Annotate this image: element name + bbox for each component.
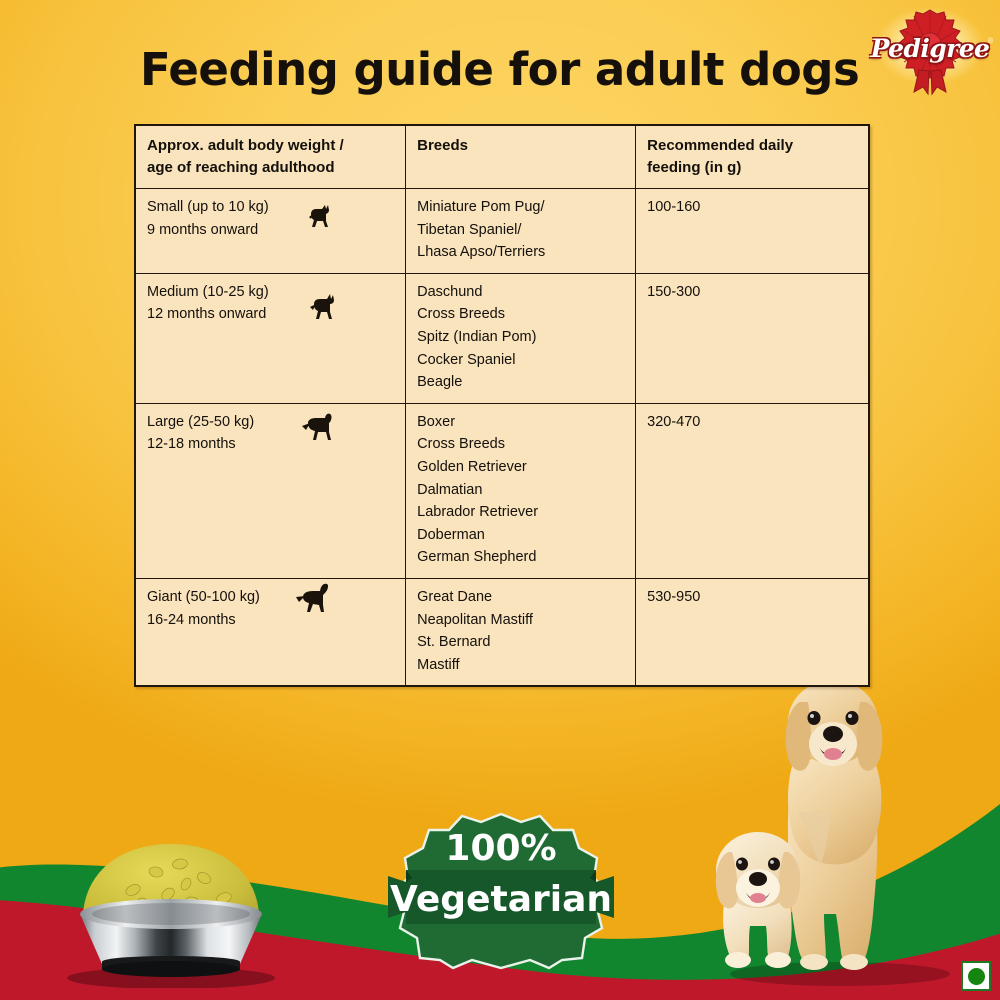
breed-item: Daschund [417,281,626,304]
breed-item: Doberman [417,524,626,547]
small-dog-silhouette-icon [302,203,336,233]
size-small-line2: 9 months onward [147,219,396,242]
size-large-line1: Large (25-50 kg) [147,411,396,434]
giant-dog-silhouette-icon [290,581,334,615]
breed-item: Tibetan Spaniel/ [417,219,626,242]
header-cell-breeds: Breeds [406,125,636,189]
cell-size-medium: Medium (10-25 kg) 12 months onward [135,273,406,403]
size-small-line1: Small (up to 10 kg) [147,196,396,219]
badge-label-text: Vegetarian [390,879,612,920]
header-feeding-line1: Recommended daily [647,135,859,157]
breed-item: Cross Breeds [417,433,626,456]
table-row: Small (up to 10 kg) 9 months onward Mini… [135,189,869,274]
size-medium-line2: 12 months onward [147,303,396,326]
cell-breeds-medium: Daschund Cross Breeds Spitz (Indian Pom)… [406,273,636,403]
table-header-row: Approx. adult body weight / age of reach… [135,125,869,189]
medium-dog-silhouette-icon [304,292,342,324]
header-cell-body-weight: Approx. adult body weight / age of reach… [135,125,406,189]
size-medium-line1: Medium (10-25 kg) [147,281,396,304]
breed-item: Mastiff [417,654,626,677]
poster-canvas: 100% Vegetarian [0,0,1000,1000]
table-row: Medium (10-25 kg) 12 months onward Dasch… [135,273,869,403]
cell-size-giant: Giant (50-100 kg) 16-24 months [135,578,406,686]
cell-size-small: Small (up to 10 kg) 9 months onward [135,189,406,274]
breed-item: Miniature Pom Pug/ [417,196,626,219]
adult-dog [786,680,883,970]
page-title: Feeding guide for adult dogs [140,44,859,96]
cell-size-large: Large (25-50 kg) 12-18 months [135,403,406,578]
breed-item: Labrador Retriever [417,501,626,524]
pedigree-logo-text: Pedigree [862,34,998,63]
breed-item: St. Bernard [417,631,626,654]
large-dog-silhouette-icon [296,410,340,444]
table-row: Giant (50-100 kg) 16-24 months Great Dan… [135,578,869,686]
breed-item: Cross Breeds [417,303,626,326]
cell-feeding-large: 320-470 [636,403,869,578]
cell-breeds-small: Miniature Pom Pug/ Tibetan Spaniel/ Lhas… [406,189,636,274]
header-body-weight-line2: age of reaching adulthood [147,157,396,179]
breed-item: Dalmatian [417,479,626,502]
green-vegetarian-mark-icon [961,961,991,991]
cell-feeding-giant: 530-950 [636,578,869,686]
dog-food-bowl-image [58,828,284,988]
size-giant-line2: 16-24 months [147,609,396,632]
header-breeds-label: Breeds [417,135,626,157]
breed-item: German Shepherd [417,546,626,569]
badge-percent-text: 100% [445,828,556,869]
breed-item: Great Dane [417,586,626,609]
cell-breeds-giant: Great Dane Neapolitan Mastiff St. Bernar… [406,578,636,686]
size-large-line2: 12-18 months [147,433,396,456]
golden-retriever-dogs-image [690,662,1000,992]
pedigree-logo[interactable]: Pedigree ® [862,0,998,96]
cell-feeding-small: 100-160 [636,189,869,274]
cell-breeds-large: Boxer Cross Breeds Golden Retriever Dalm… [406,403,636,578]
trademark-symbol: ® [988,38,993,45]
puppy-dog [716,832,800,968]
breed-item: Boxer [417,411,626,434]
table-row: Large (25-50 kg) 12-18 months Boxer Cros… [135,403,869,578]
breed-item: Neapolitan Mastiff [417,609,626,632]
header-feeding-line2: feeding (in g) [647,157,859,179]
header-body-weight-line1: Approx. adult body weight / [147,135,396,157]
breed-item: Spitz (Indian Pom) [417,326,626,349]
breed-item: Cocker Spaniel [417,349,626,372]
size-giant-line1: Giant (50-100 kg) [147,586,396,609]
vegetarian-badge: 100% Vegetarian [388,812,614,970]
cell-feeding-medium: 150-300 [636,273,869,403]
feeding-guide-table: Approx. adult body weight / age of reach… [134,124,870,687]
breed-item: Beagle [417,371,626,394]
header-cell-daily-feeding: Recommended daily feeding (in g) [636,125,869,189]
breed-item: Golden Retriever [417,456,626,479]
breed-item: Lhasa Apso/Terriers [417,241,626,264]
